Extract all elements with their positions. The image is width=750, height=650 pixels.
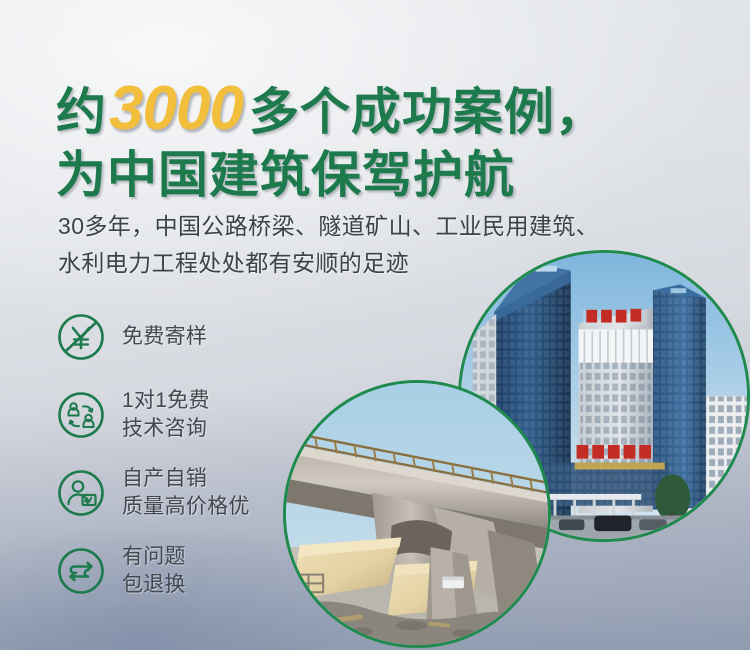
self-production-quality-icon — [56, 468, 106, 518]
feature-item-free-sample: 免费寄样 — [56, 298, 306, 376]
free-sample-icon — [56, 312, 106, 362]
headline-line-1: 约3000多个成功案例， — [56, 78, 606, 140]
return-exchange-icon — [56, 546, 106, 596]
feature-line: 包退换 — [122, 571, 186, 599]
feature-line: 技术咨询 — [122, 415, 210, 443]
feature-label-free-sample: 免费寄样 — [122, 323, 207, 351]
headline: 约3000多个成功案例， 为中国建筑保驾护航 — [56, 78, 606, 200]
feature-label-consultation: 1对1免费 技术咨询 — [122, 387, 210, 443]
promo-banner: 约3000多个成功案例， 为中国建筑保驾护航 30多年，中国公路桥梁、隧道矿山、… — [0, 0, 750, 650]
feature-line: 免费寄样 — [122, 323, 207, 351]
headline-prefix: 约 — [56, 84, 107, 140]
headline-line-2: 为中国建筑保驾护航 — [56, 150, 606, 200]
feature-line: 1对1免费 — [122, 387, 210, 415]
headline-number: 3000 — [107, 74, 249, 143]
headline-suffix: 多个成功案例， — [249, 84, 606, 140]
feature-list: 免费寄样 1对1免费 技术咨询 — [56, 298, 306, 610]
feature-line: 自产自销 — [122, 465, 250, 493]
one-on-one-consult-icon — [56, 390, 106, 440]
subtitle-line-1: 30多年，中国公路桥梁、隧道矿山、工业民用建筑、 — [58, 208, 599, 245]
concrete-bridge-underside-photo — [283, 380, 551, 648]
feature-item-consultation: 1对1免费 技术咨询 — [56, 376, 306, 454]
feature-line: 质量高价格优 — [122, 493, 250, 521]
feature-label-return-exchange: 有问题 包退换 — [122, 543, 186, 599]
bridge-photo-illustration — [286, 383, 548, 645]
feature-item-quality: 自产自销 质量高价格优 — [56, 454, 306, 532]
feature-item-return-exchange: 有问题 包退换 — [56, 532, 306, 610]
feature-line: 有问题 — [122, 543, 186, 571]
feature-label-quality: 自产自销 质量高价格优 — [122, 465, 250, 521]
subtitle: 30多年，中国公路桥梁、隧道矿山、工业民用建筑、 水利电力工程处处都有安顺的足迹 — [58, 208, 599, 283]
